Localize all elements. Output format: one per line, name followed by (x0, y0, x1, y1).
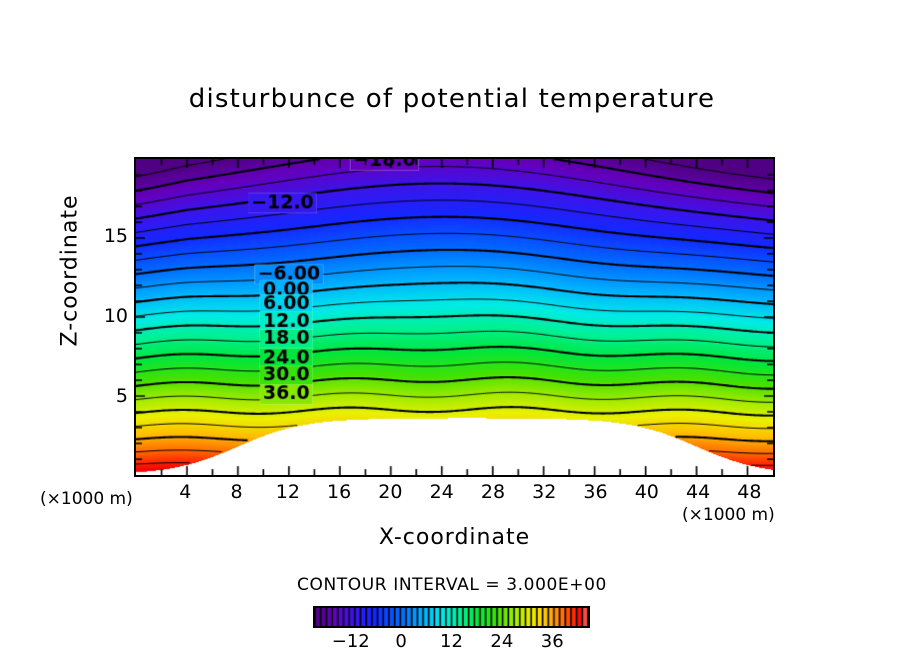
z-axis-title: Z-coordinate (58, 171, 83, 371)
colorbar-tick-label: 24 (477, 631, 527, 652)
contour-plot-area (134, 157, 775, 477)
x-tick-label: 20 (368, 481, 412, 503)
x-axis-unit-label: (×1000 m) (682, 505, 775, 525)
colorbar-tick-label: 36 (527, 631, 577, 652)
z-axis-unit-label: (×1000 m) (40, 489, 133, 509)
x-tick-label: 36 (574, 481, 618, 503)
x-tick-label: 32 (522, 481, 566, 503)
x-tick-label: 28 (471, 481, 515, 503)
x-tick-label: 40 (625, 481, 669, 503)
colorbar-tick-labels: −120122436 (313, 631, 590, 653)
contour-interval-caption: CONTOUR INTERVAL = 3.000E+00 (0, 575, 904, 595)
x-axis-title: X-coordinate (134, 525, 775, 550)
z-axis-tick-labels: 51015 (84, 157, 128, 477)
colorbar-tick-label: −12 (326, 631, 376, 652)
z-tick-label: 15 (88, 225, 128, 247)
colorbar-gradient (315, 608, 588, 626)
x-tick-label: 4 (163, 481, 207, 503)
x-tick-label: 44 (676, 481, 720, 503)
figure-canvas: disturbunce of potential temperature 510… (0, 0, 904, 654)
colorbar-tick-label: 0 (376, 631, 426, 652)
z-tick-label: 5 (88, 385, 128, 407)
x-axis-tick-labels: 4812162024283236404448 (134, 481, 775, 507)
z-tick-label: 10 (88, 305, 128, 327)
colorbar (313, 606, 590, 628)
x-tick-label: 24 (420, 481, 464, 503)
x-tick-label: 48 (727, 481, 771, 503)
x-tick-label: 8 (215, 481, 259, 503)
contour-field (136, 159, 773, 475)
page-title: disturbunce of potential temperature (0, 84, 904, 114)
x-tick-label: 12 (266, 481, 310, 503)
colorbar-tick-label: 12 (427, 631, 477, 652)
x-tick-label: 16 (317, 481, 361, 503)
